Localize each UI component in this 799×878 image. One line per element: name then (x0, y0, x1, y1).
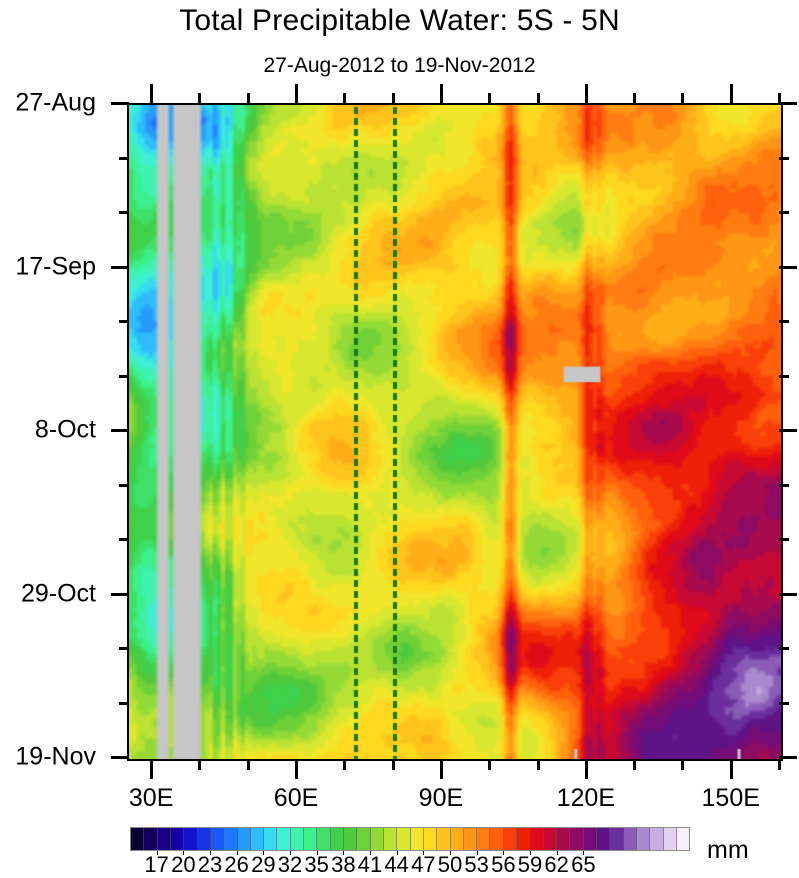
y-tick-minor-right (779, 320, 789, 323)
colorbar-swatch (171, 828, 184, 850)
colorbar-swatch (291, 828, 304, 850)
colorbar-swatch (624, 828, 637, 850)
x-tick-major (150, 759, 153, 779)
colorbar-swatch (451, 828, 464, 850)
colorbar-swatch (517, 828, 530, 850)
y-tick-minor (119, 647, 129, 650)
x-tick-minor-top (247, 93, 250, 104)
colorbar (130, 827, 690, 851)
colorbar-tick-label: 29 (251, 852, 275, 878)
colorbar-swatch (557, 828, 570, 850)
y-axis-label: 19-Nov (15, 743, 96, 772)
y-tick-minor-right (779, 538, 789, 541)
colorbar-swatch (251, 828, 264, 850)
colorbar-swatch (650, 828, 663, 850)
x-tick-major (295, 759, 298, 779)
colorbar-swatch (411, 828, 424, 850)
colorbar-swatch (530, 828, 543, 850)
colorbar-tick-label: 20 (171, 852, 195, 878)
y-tick-major (111, 102, 129, 105)
y-tick-minor (119, 157, 129, 160)
x-tick-major (440, 759, 443, 779)
y-tick-minor-right (779, 157, 789, 160)
x-tick-minor-top (343, 93, 346, 104)
hovmoller-plot-area (127, 103, 783, 761)
colorbar-swatch (144, 828, 157, 850)
x-tick-major (585, 759, 588, 779)
colorbar-swatch (211, 828, 224, 850)
y-tick-minor (119, 484, 129, 487)
colorbar-units-label: mm (707, 836, 749, 865)
x-axis-label: 30E (129, 784, 173, 813)
colorbar-swatch (198, 828, 211, 850)
colorbar-swatch (490, 828, 503, 850)
x-tick-major-top (440, 84, 443, 104)
colorbar-swatch (464, 828, 477, 850)
y-tick-minor-right (779, 647, 789, 650)
colorbar-swatch (264, 828, 277, 850)
x-tick-minor (633, 759, 636, 770)
colorbar-tick-label: 41 (358, 852, 382, 878)
colorbar-swatch (277, 828, 290, 850)
y-tick-major-right (779, 756, 797, 759)
x-tick-minor (778, 759, 781, 770)
x-tick-minor (488, 759, 491, 770)
y-tick-minor (119, 702, 129, 705)
x-tick-minor (537, 759, 540, 770)
page-title: Total Precipitable Water: 5S - 5N (0, 4, 799, 38)
x-tick-minor-top (633, 93, 636, 104)
y-tick-major (111, 756, 129, 759)
x-tick-minor-top (198, 93, 201, 104)
colorbar-tick-label: 56 (491, 852, 515, 878)
y-tick-major-right (779, 429, 797, 432)
colorbar-tick-label: 35 (304, 852, 328, 878)
y-tick-minor (119, 211, 129, 214)
precipitable-water-heatmap (129, 105, 781, 759)
y-axis-label: 8-Oct (35, 416, 96, 445)
x-tick-minor-top (537, 93, 540, 104)
y-tick-minor (119, 375, 129, 378)
colorbar-tick-label: 65 (571, 852, 595, 878)
colorbar-swatch (331, 828, 344, 850)
colorbar-swatch (158, 828, 171, 850)
y-tick-minor-right (779, 484, 789, 487)
y-tick-minor (119, 538, 129, 541)
colorbar-swatch (597, 828, 610, 850)
colorbar-tick-label: 26 (224, 852, 248, 878)
colorbar-tick-label: 23 (198, 852, 222, 878)
colorbar-swatch (637, 828, 650, 850)
colorbar-swatch (504, 828, 517, 850)
x-axis-label: 90E (419, 784, 463, 813)
x-axis-label: 60E (274, 784, 318, 813)
colorbar-swatch (131, 828, 144, 850)
x-tick-major-top (585, 84, 588, 104)
colorbar-swatch (184, 828, 197, 850)
x-tick-major-top (730, 84, 733, 104)
x-tick-minor-top (392, 93, 395, 104)
y-tick-major (111, 266, 129, 269)
colorbar-swatch (224, 828, 237, 850)
chart-root: Total Precipitable Water: 5S - 5N 27-Aug… (0, 0, 799, 872)
colorbar-swatch (664, 828, 677, 850)
x-tick-minor (247, 759, 250, 770)
x-axis-label: 150E (702, 784, 760, 813)
x-axis-label: 120E (557, 784, 615, 813)
colorbar-tick-label: 47 (411, 852, 435, 878)
chart-subtitle: 27-Aug-2012 to 19-Nov-2012 (0, 54, 799, 78)
y-axis-label: 27-Aug (15, 89, 96, 118)
x-tick-minor (198, 759, 201, 770)
colorbar-tick-label: 17 (144, 852, 168, 878)
colorbar-swatch (317, 828, 330, 850)
colorbar-swatch (424, 828, 437, 850)
colorbar-swatch (677, 828, 689, 850)
colorbar-swatch (397, 828, 410, 850)
x-tick-major (730, 759, 733, 779)
x-tick-minor-top (778, 93, 781, 104)
colorbar-swatch (610, 828, 623, 850)
y-tick-minor-right (779, 211, 789, 214)
x-tick-major-top (295, 84, 298, 104)
y-tick-major (111, 593, 129, 596)
x-tick-minor (343, 759, 346, 770)
colorbar-swatch (238, 828, 251, 850)
y-axis-label: 29-Oct (21, 579, 96, 608)
colorbar-swatch (344, 828, 357, 850)
colorbar-tick-label: 32 (278, 852, 302, 878)
colorbar-swatch (357, 828, 370, 850)
x-tick-minor (681, 759, 684, 770)
colorbar-swatch (584, 828, 597, 850)
x-tick-major-top (150, 84, 153, 104)
x-tick-minor-top (681, 93, 684, 104)
colorbar-swatch (304, 828, 317, 850)
colorbar-swatch (437, 828, 450, 850)
y-tick-major (111, 429, 129, 432)
y-axis-label: 17-Sep (15, 252, 96, 281)
colorbar-tick-label: 59 (518, 852, 542, 878)
y-tick-major-right (779, 593, 797, 596)
y-tick-minor (119, 320, 129, 323)
colorbar-swatch (384, 828, 397, 850)
colorbar-tick-label: 50 (438, 852, 462, 878)
colorbar-tick-label: 53 (464, 852, 488, 878)
colorbar-tick-label: 44 (384, 852, 408, 878)
y-tick-minor-right (779, 375, 789, 378)
colorbar-swatch (570, 828, 583, 850)
x-tick-minor (392, 759, 395, 770)
y-tick-major-right (779, 266, 797, 269)
colorbar-swatch (544, 828, 557, 850)
colorbar-tick-label: 62 (544, 852, 568, 878)
colorbar-tick-label: 38 (331, 852, 355, 878)
x-tick-minor-top (488, 93, 491, 104)
y-tick-major-right (779, 102, 797, 105)
colorbar-swatch (477, 828, 490, 850)
y-tick-minor-right (779, 702, 789, 705)
colorbar-swatch (371, 828, 384, 850)
